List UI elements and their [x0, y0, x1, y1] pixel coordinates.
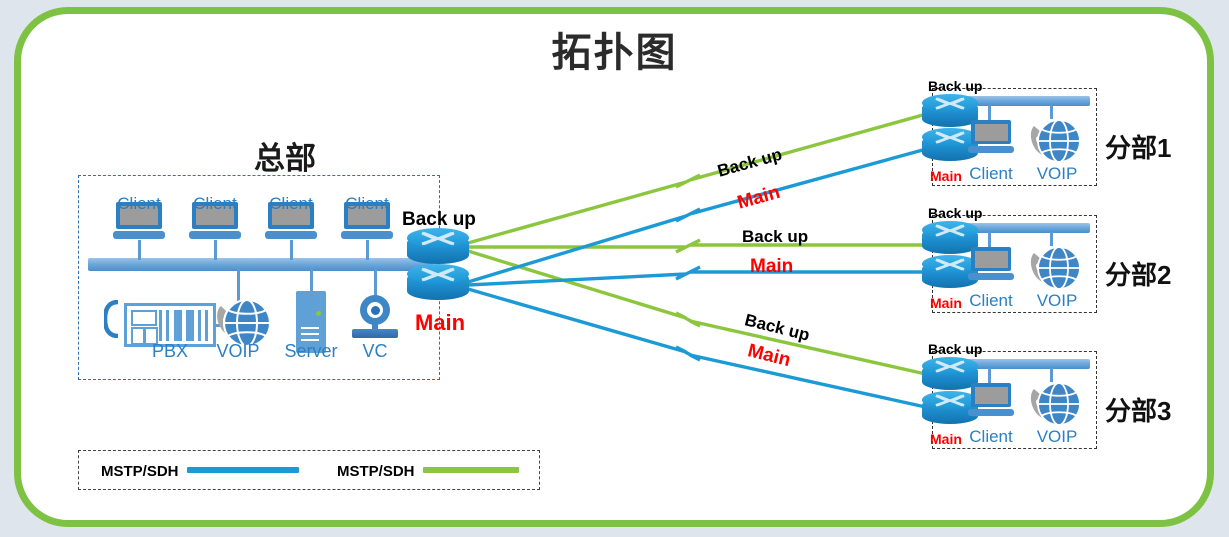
- router-arrows-icon: [934, 393, 966, 408]
- hq-server-stub: [310, 268, 313, 291]
- branch1-backup-label: Back up: [928, 78, 982, 94]
- hq-voip-stub: [237, 268, 240, 302]
- branch3-client-label: Client: [966, 427, 1016, 446]
- branch2-client-label: Client: [966, 291, 1016, 310]
- page-title: 拓扑图: [0, 20, 1229, 78]
- branch2-main-label: Main: [930, 295, 962, 311]
- branch1-client-stub: [988, 105, 991, 121]
- hq-client-stub: [366, 240, 369, 260]
- branch1-main-label: Main: [930, 168, 962, 184]
- pbx-handset-icon: [104, 300, 124, 338]
- branch3-voip-stub: [1050, 368, 1053, 382]
- branch2-title: 分部2: [1105, 255, 1171, 292]
- link-label-backup-branch2: Back up: [742, 227, 808, 247]
- branch3-voip-globe-icon: [1036, 381, 1082, 427]
- hq-client-label: Client: [265, 194, 317, 213]
- branch2-voip-globe-icon: [1036, 245, 1082, 291]
- branch1-title: 分部1: [1105, 128, 1171, 165]
- voip-label: VOIP: [214, 342, 262, 361]
- branch3-main-label: Main: [930, 431, 962, 447]
- branch1-voip-globe-icon: [1036, 118, 1082, 164]
- pbx-label: PBX: [128, 342, 212, 361]
- server-label: Server: [282, 342, 340, 361]
- router-arrows-icon: [420, 266, 456, 283]
- branch3-title: 分部3: [1105, 391, 1171, 428]
- router-arrows-icon: [934, 257, 966, 272]
- router-arrows-icon: [934, 130, 966, 145]
- hq-client-label: Client: [189, 194, 241, 213]
- link-label-main-branch2: Main: [750, 256, 793, 278]
- branch1-voip-label: VOIP: [1034, 164, 1080, 183]
- legend-label-backup: MSTP/SDH: [337, 463, 415, 480]
- hq-client-label: Client: [341, 194, 393, 213]
- branch2-client-laptop: [968, 247, 1014, 283]
- branch2-voip-label: VOIP: [1034, 291, 1080, 310]
- hq-client-stub: [214, 240, 217, 260]
- hq-client-stub: [290, 240, 293, 260]
- router-arrows-icon: [420, 230, 456, 247]
- router-arrows-icon: [934, 359, 966, 374]
- router-arrows-icon: [934, 96, 966, 111]
- branch3-backup-label: Back up: [928, 341, 982, 357]
- branch3-voip-label: VOIP: [1034, 427, 1080, 446]
- branch1-client-label: Client: [966, 164, 1016, 183]
- headquarters-title: 总部: [185, 133, 385, 178]
- legend: MSTP/SDH MSTP/SDH: [78, 450, 540, 490]
- vc-camera-icon: [352, 295, 398, 343]
- legend-line-backup: [423, 467, 519, 473]
- branch2-client-stub: [988, 232, 991, 248]
- router-arrows-icon: [934, 223, 966, 238]
- hq-main-router: [407, 264, 469, 306]
- hq-client-label: Client: [113, 194, 165, 213]
- legend-line-main: [187, 467, 299, 473]
- branch3-client-stub: [988, 368, 991, 384]
- branch3-client-laptop: [968, 383, 1014, 419]
- vc-label: VC: [352, 342, 398, 361]
- topology-diagram: 拓扑图 .gl{stroke:#8cc63e;stroke-width:3.4;…: [0, 0, 1229, 537]
- branch2-voip-stub: [1050, 232, 1053, 246]
- branch1-voip-stub: [1050, 105, 1053, 119]
- branch2-backup-label: Back up: [928, 205, 982, 221]
- hq-main-label: Main: [415, 310, 465, 336]
- branch1-client-laptop: [968, 120, 1014, 156]
- hq-client-stub: [138, 240, 141, 260]
- legend-label-main: MSTP/SDH: [101, 463, 179, 480]
- hq-vc-stub: [374, 268, 377, 296]
